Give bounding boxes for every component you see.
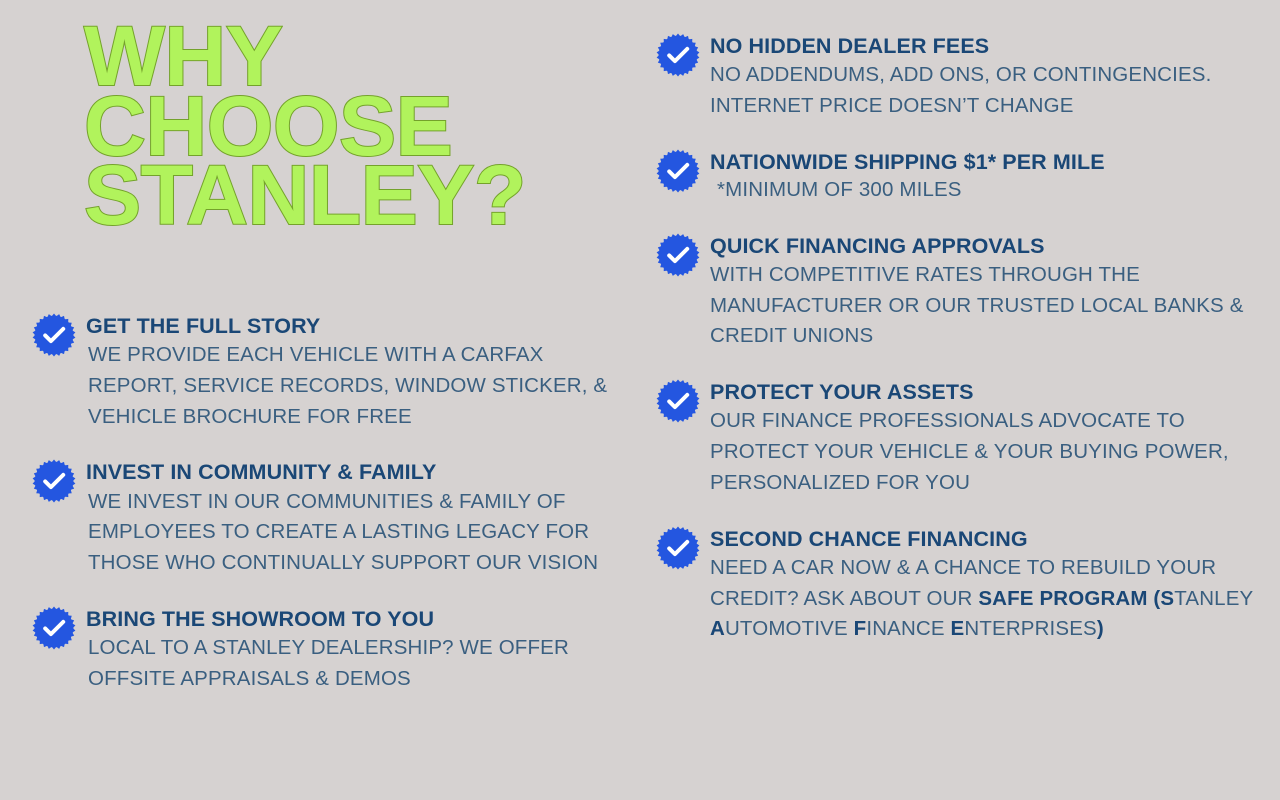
list-item-description: WITH COMPETITIVE RATES THROUGH THE MANUF… — [710, 260, 1256, 352]
list-item-title: PROTECT YOUR ASSETS — [710, 379, 1256, 405]
check-badge-icon — [32, 606, 76, 650]
list-item-body: GET THE FULL STORY WE PROVIDE EACH VEHIC… — [86, 312, 620, 432]
list-item-footnote: *MINIMUM OF 300 MILES — [710, 175, 1256, 206]
benefits-column-left: GET THE FULL STORY WE PROVIDE EACH VEHIC… — [32, 312, 620, 695]
list-item-title: QUICK FINANCING APPROVALS — [710, 233, 1256, 259]
list-item-body: QUICK FINANCING APPROVALS WITH COMPETITI… — [710, 232, 1256, 352]
list-item-body: BRING THE SHOWROOM TO YOU LOCAL TO A STA… — [86, 605, 620, 695]
list-item-title: GET THE FULL STORY — [86, 313, 620, 339]
list-item: BRING THE SHOWROOM TO YOU LOCAL TO A STA… — [32, 605, 620, 695]
list-item-body: PROTECT YOUR ASSETS OUR FINANCE PROFESSI… — [710, 378, 1256, 498]
check-badge-icon — [656, 149, 700, 193]
list-item-description: NEED A CAR NOW & A CHANCE TO REBUILD YOU… — [710, 553, 1256, 645]
check-badge-icon — [656, 233, 700, 277]
list-item: PROTECT YOUR ASSETS OUR FINANCE PROFESSI… — [656, 378, 1256, 498]
list-item: SECOND CHANCE FINANCING NEED A CAR NOW &… — [656, 525, 1256, 645]
list-item-description: WE INVEST IN OUR COMMUNITIES & FAMILY OF… — [86, 487, 620, 579]
check-badge-icon — [32, 459, 76, 503]
promo-page: WHY CHOOSE STANLEY? GET THE FULL STORY W… — [0, 0, 1280, 800]
list-item: NATIONWIDE SHIPPING $1* PER MILE *MINIMU… — [656, 148, 1256, 206]
list-item-body: SECOND CHANCE FINANCING NEED A CAR NOW &… — [710, 525, 1256, 645]
list-item-body: INVEST IN COMMUNITY & FAMILY WE INVEST I… — [86, 458, 620, 578]
list-item-body: NATIONWIDE SHIPPING $1* PER MILE *MINIMU… — [710, 148, 1256, 206]
list-item-description: WE PROVIDE EACH VEHICLE WITH A CARFAX RE… — [86, 340, 620, 432]
benefits-column-right: NO HIDDEN DEALER FEES NO ADDENDUMS, ADD … — [656, 32, 1256, 645]
check-badge-icon — [32, 313, 76, 357]
list-item-title: NATIONWIDE SHIPPING $1* PER MILE — [710, 149, 1256, 175]
headline-line-3: STANLEY? — [84, 161, 635, 231]
list-item: INVEST IN COMMUNITY & FAMILY WE INVEST I… — [32, 458, 620, 578]
list-item: QUICK FINANCING APPROVALS WITH COMPETITI… — [656, 232, 1256, 352]
list-item-description: NO ADDENDUMS, ADD ONS, OR CONTINGENCIES.… — [710, 60, 1256, 122]
check-badge-icon — [656, 33, 700, 77]
check-badge-icon — [656, 526, 700, 570]
list-item-title: BRING THE SHOWROOM TO YOU — [86, 606, 620, 632]
check-badge-icon — [656, 379, 700, 423]
list-item-title: NO HIDDEN DEALER FEES — [710, 33, 1256, 59]
list-item: NO HIDDEN DEALER FEES NO ADDENDUMS, ADD … — [656, 32, 1256, 122]
list-item: GET THE FULL STORY WE PROVIDE EACH VEHIC… — [32, 312, 620, 432]
list-item-description: OUR FINANCE PROFESSIONALS ADVOCATE TO PR… — [710, 406, 1256, 498]
list-item-description: LOCAL TO A STANLEY DEALERSHIP? WE OFFER … — [86, 633, 620, 695]
list-item-title: INVEST IN COMMUNITY & FAMILY — [86, 459, 620, 485]
page-title: WHY CHOOSE STANLEY? — [84, 22, 624, 231]
list-item-title: SECOND CHANCE FINANCING — [710, 526, 1256, 552]
list-item-body: NO HIDDEN DEALER FEES NO ADDENDUMS, ADD … — [710, 32, 1256, 122]
